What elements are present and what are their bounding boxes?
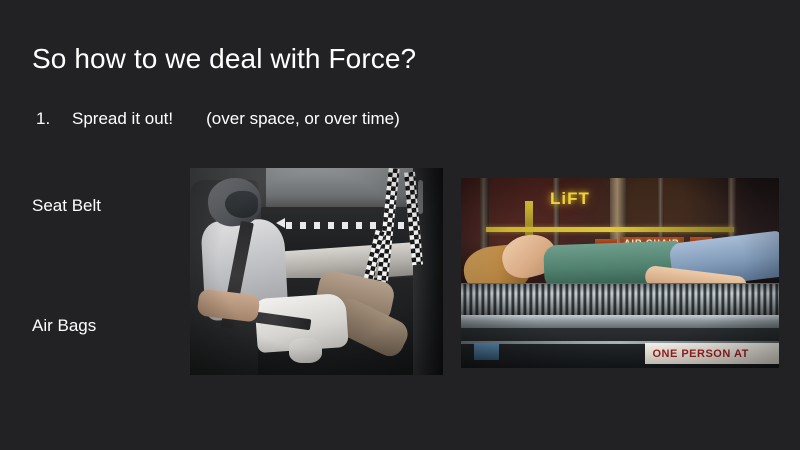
banner-one-person-at: ONE PERSON AT <box>645 343 779 364</box>
calibration-arrow-marker <box>276 218 285 228</box>
vehicle-vent-slot <box>418 180 423 213</box>
banner-one-person-at-text: ONE PERSON AT <box>645 348 748 360</box>
bullet-parenthetical: (over space, or over time) <box>206 108 400 130</box>
bullet-text: Spread it out! <box>72 108 173 130</box>
page-title: So how to we deal with Force? <box>32 42 416 76</box>
calibration-dot-strip <box>286 222 418 229</box>
bed-of-nails-shading <box>461 283 779 317</box>
neon-sign-lift: LiFT <box>550 189 590 209</box>
label-air-bags: Air Bags <box>32 315 96 337</box>
photo-crash-test-dummy <box>190 168 443 375</box>
dummy-hand <box>289 338 322 363</box>
bullet-list-item: 1. Spread it out! (over space, or over t… <box>36 108 400 130</box>
yellow-rail <box>486 227 734 232</box>
bullet-marker: 1. <box>36 108 72 130</box>
dummy-face <box>225 191 258 218</box>
photo-bed-of-nails: LiFT AIR CHAIR ONE PERSON AT <box>461 178 779 368</box>
label-seat-belt: Seat Belt <box>32 195 101 217</box>
slide-canvas: So how to we deal with Force? 1. Spread … <box>0 0 800 450</box>
table-side-placard <box>474 343 499 360</box>
